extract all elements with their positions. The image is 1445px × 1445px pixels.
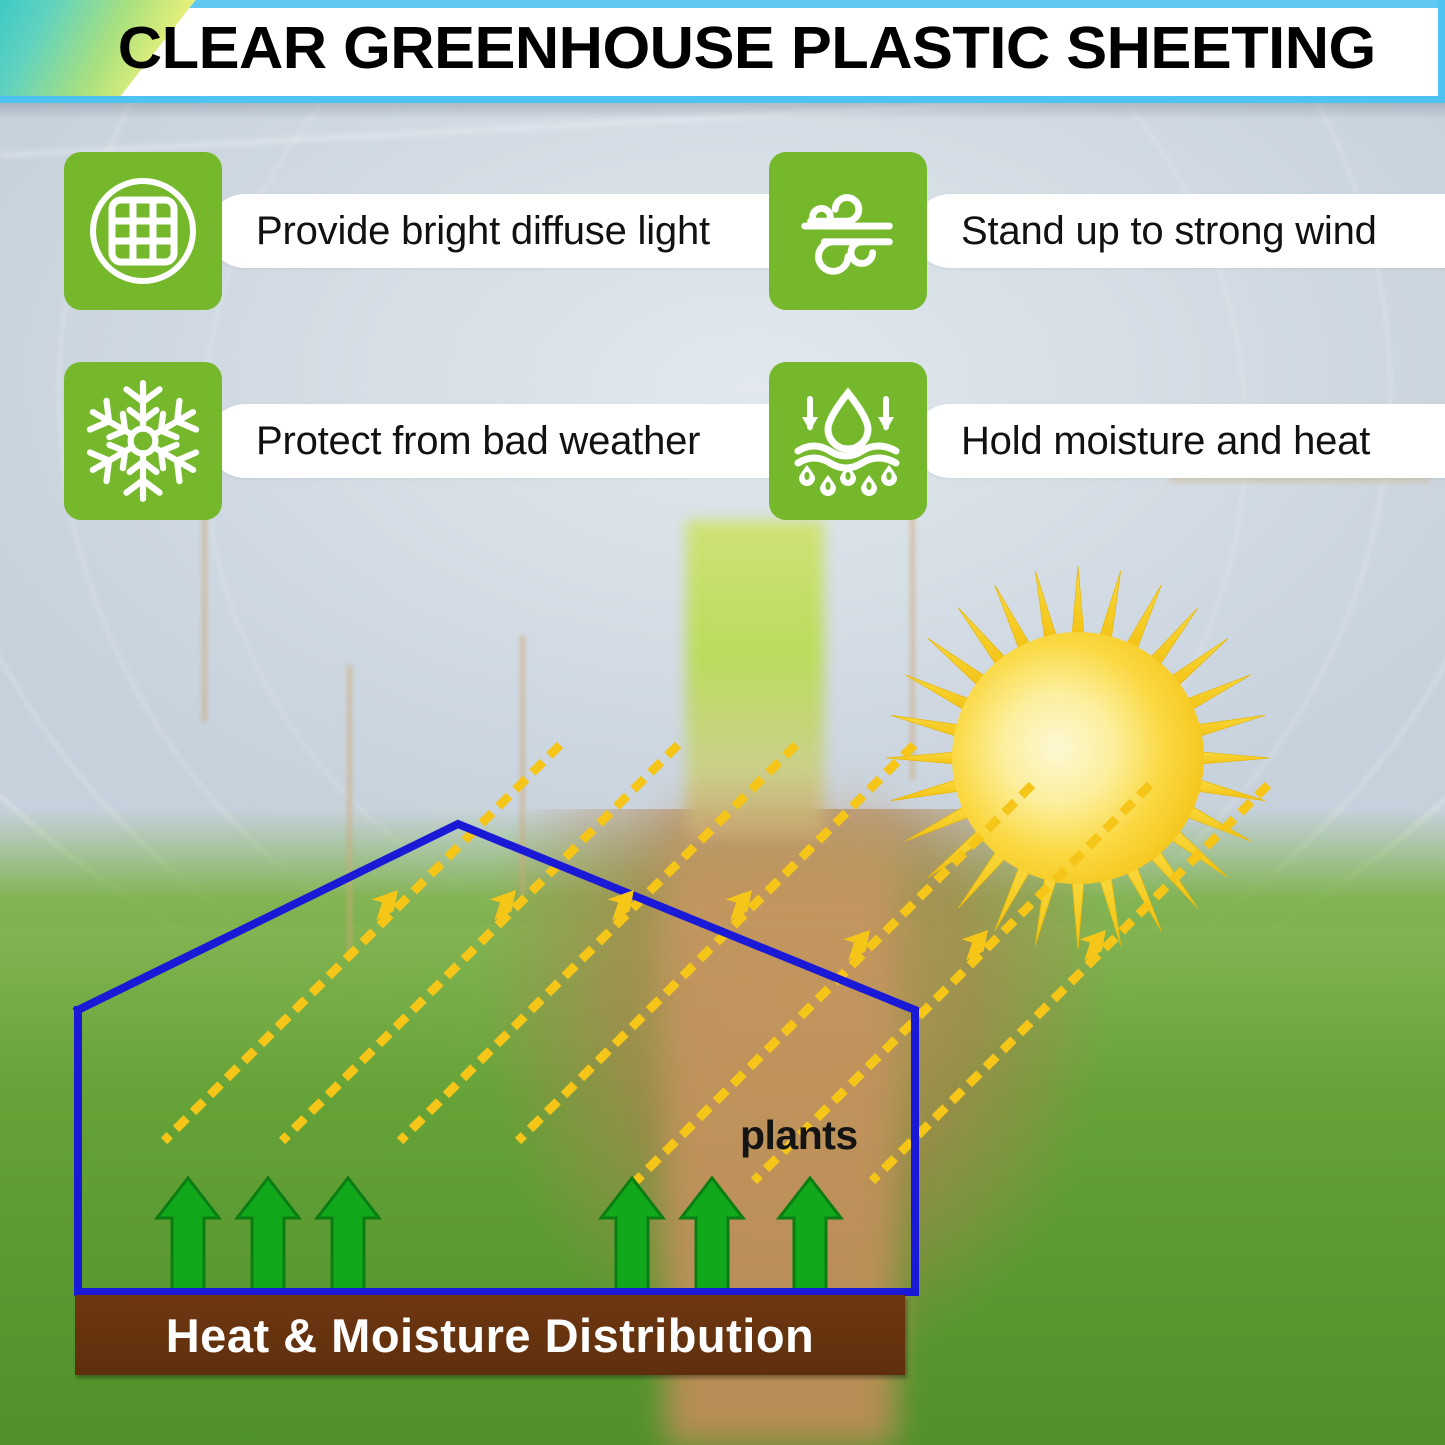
infographic-canvas: plants Heat & Moisture Distribution CLEA…: [0, 0, 1445, 1445]
sun-ray: [1124, 585, 1161, 653]
sun-ray: [1194, 779, 1266, 801]
header-banner: CLEAR GREENHOUSE PLASTIC SHEETING: [0, 0, 1445, 103]
header-drop-shadow: [0, 103, 1445, 119]
sun-ray: [1035, 874, 1057, 946]
background-soil-path: [665, 780, 896, 1445]
feature-label-pill: Hold moisture and heat: [913, 404, 1445, 478]
sun-ray: [1099, 874, 1121, 946]
sun-ray: [1194, 715, 1266, 737]
wind-icon: [769, 152, 927, 310]
sun-ray: [905, 675, 973, 712]
water-droplet-hole: [804, 472, 809, 480]
sun-ray: [1124, 863, 1161, 931]
sun-ray: [1183, 675, 1251, 712]
feature-item-moisture-heat[interactable]: Hold moisture and heat: [769, 362, 1445, 520]
feature-item-strong-wind[interactable]: Stand up to strong wind: [769, 152, 1445, 310]
sun-ray: [891, 779, 963, 801]
window-grid-icon: [64, 152, 222, 310]
sun-ray: [995, 863, 1032, 931]
feature-list: Provide bright diffuse light Stand up to…: [0, 152, 1445, 542]
feature-label: Hold moisture and heat: [961, 419, 1370, 464]
sun-ray: [905, 804, 973, 841]
feature-label: Protect from bad weather: [256, 419, 700, 464]
snowflake-spoke: [126, 383, 159, 428]
tunnel-post: [347, 665, 352, 954]
feature-label-pill: Provide bright diffuse light: [208, 194, 816, 268]
sun-ray: [886, 752, 958, 764]
feature-label: Provide bright diffuse light: [256, 209, 710, 254]
sun-icon: [880, 560, 1280, 960]
sun-ray: [1183, 804, 1251, 841]
sun-ray: [995, 585, 1032, 653]
sun-ray: [1072, 878, 1084, 950]
sun-ray: [1099, 571, 1121, 643]
feature-item-bad-weather[interactable]: Protect from bad weather: [64, 362, 816, 520]
header-top-rule: [0, 0, 1438, 8]
moisture-heat-icon: [769, 362, 927, 520]
sun-ray: [1035, 571, 1057, 643]
water-droplet-hole: [845, 472, 850, 480]
water-droplet-hole: [886, 472, 891, 480]
feature-label-pill: Stand up to strong wind: [913, 194, 1445, 268]
feature-item-diffuse-light[interactable]: Provide bright diffuse light: [64, 152, 816, 310]
feature-label: Stand up to strong wind: [961, 209, 1377, 254]
sun-ray: [891, 715, 963, 737]
water-droplet-hole: [866, 482, 871, 490]
water-droplet-hole: [825, 482, 830, 490]
snowflake-spoke: [126, 453, 159, 498]
sun-ray: [1072, 566, 1084, 638]
feature-label-pill: Protect from bad weather: [208, 404, 816, 478]
snowflake-icon: [64, 362, 222, 520]
tunnel-post: [520, 636, 525, 896]
background-doorway: [686, 520, 823, 838]
sun-ray: [1198, 752, 1270, 764]
page-title: CLEAR GREENHOUSE PLASTIC SHEETING: [0, 14, 1438, 82]
